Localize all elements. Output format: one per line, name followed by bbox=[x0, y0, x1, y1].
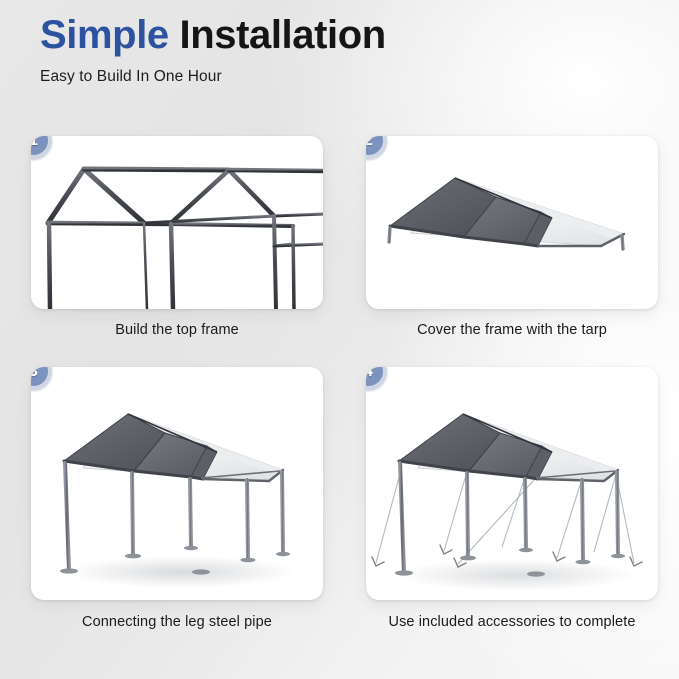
step-2-number: 2 bbox=[366, 136, 373, 149]
step-4: 4 bbox=[366, 367, 658, 630]
roof-with-tarp-cover-icon bbox=[366, 136, 658, 309]
step-2-caption: Cover the frame with the tarp bbox=[366, 322, 658, 338]
steel-frame-top-truss-icon bbox=[31, 136, 323, 309]
step-4-number: 4 bbox=[366, 367, 373, 380]
step-3: 3 bbox=[31, 367, 323, 630]
step-1-caption: Build the top frame bbox=[31, 322, 323, 338]
step-4-illustration-card: 4 bbox=[366, 367, 658, 600]
page-title: Simple Installation bbox=[40, 14, 640, 57]
step-2-illustration-card: 2 bbox=[366, 136, 658, 309]
step-4-caption: Use included accessories to complete bbox=[366, 614, 658, 630]
step-3-illustration-card: 3 bbox=[31, 367, 323, 600]
step-1-illustration-card: 1 bbox=[31, 136, 323, 309]
step-3-number: 3 bbox=[31, 367, 38, 380]
step-1: 1 bbox=[31, 136, 323, 338]
page-subtitle: Easy to Build In One Hour bbox=[40, 68, 640, 86]
header: Simple Installation Easy to Build In One… bbox=[40, 14, 640, 86]
installation-infographic: Simple Installation Easy to Build In One… bbox=[0, 0, 679, 679]
step-2: 2 bbox=[366, 136, 658, 338]
step-1-number: 1 bbox=[31, 136, 38, 149]
step-3-caption: Connecting the leg steel pipe bbox=[31, 614, 323, 630]
carport-with-legs-icon bbox=[31, 367, 323, 600]
steps-grid: 1 bbox=[0, 124, 679, 669]
carport-with-anchor-ropes-icon bbox=[366, 367, 658, 600]
page-title-rest: Installation bbox=[169, 13, 386, 57]
page-title-accent: Simple bbox=[40, 13, 169, 57]
